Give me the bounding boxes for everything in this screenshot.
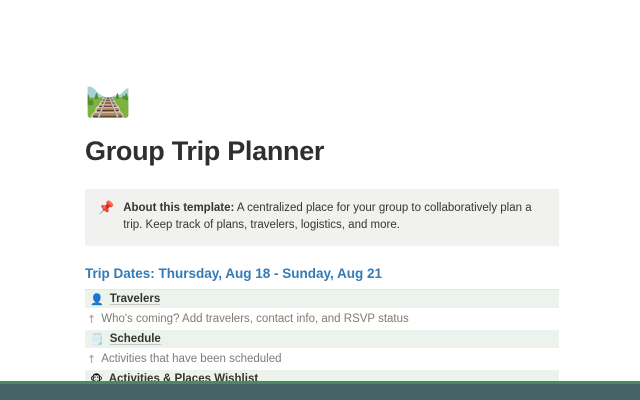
travelers-description-row: ↑ Who's coming? Add travelers, contact i… (85, 308, 559, 330)
up-arrow-icon: ↑ (87, 353, 96, 366)
page-title: Group Trip Planner (85, 137, 559, 167)
page-canvas: 🛤️ Group Trip Planner 📌 About this templ… (0, 0, 640, 400)
section-description: Who's coming? Add travelers, contact inf… (101, 313, 409, 325)
up-arrow-icon: ↑ (87, 313, 96, 326)
page-content: 🛤️ Group Trip Planner 📌 About this templ… (85, 0, 559, 388)
bust-in-silhouette-emoji: 👤 (90, 293, 104, 306)
sidebar-item-travelers[interactable]: 👤 Travelers (85, 290, 559, 308)
spiral-notepad-emoji: 🗒️ (90, 333, 104, 346)
callout-label: About this template: (123, 202, 234, 214)
railway-track-emoji[interactable]: 🛤️ (85, 78, 131, 118)
about-template-callout: 📌 About this template: A centralized pla… (85, 189, 559, 246)
sections-list: 👤 Travelers ↑ Who's coming? Add traveler… (85, 290, 559, 388)
section-link-label: Travelers (110, 293, 161, 305)
section-link-label: Schedule (110, 333, 161, 345)
footer-bar (0, 384, 640, 400)
schedule-description-row: ↑ Activities that have been scheduled (85, 348, 559, 370)
trip-dates-heading[interactable]: Trip Dates: Thursday, Aug 18 - Sunday, A… (85, 265, 559, 283)
sidebar-item-schedule[interactable]: 🗒️ Schedule (85, 330, 559, 348)
callout-text: About this template: A centralized place… (123, 200, 545, 234)
pushpin-emoji: 📌 (98, 200, 114, 217)
section-description: Activities that have been scheduled (101, 353, 281, 365)
